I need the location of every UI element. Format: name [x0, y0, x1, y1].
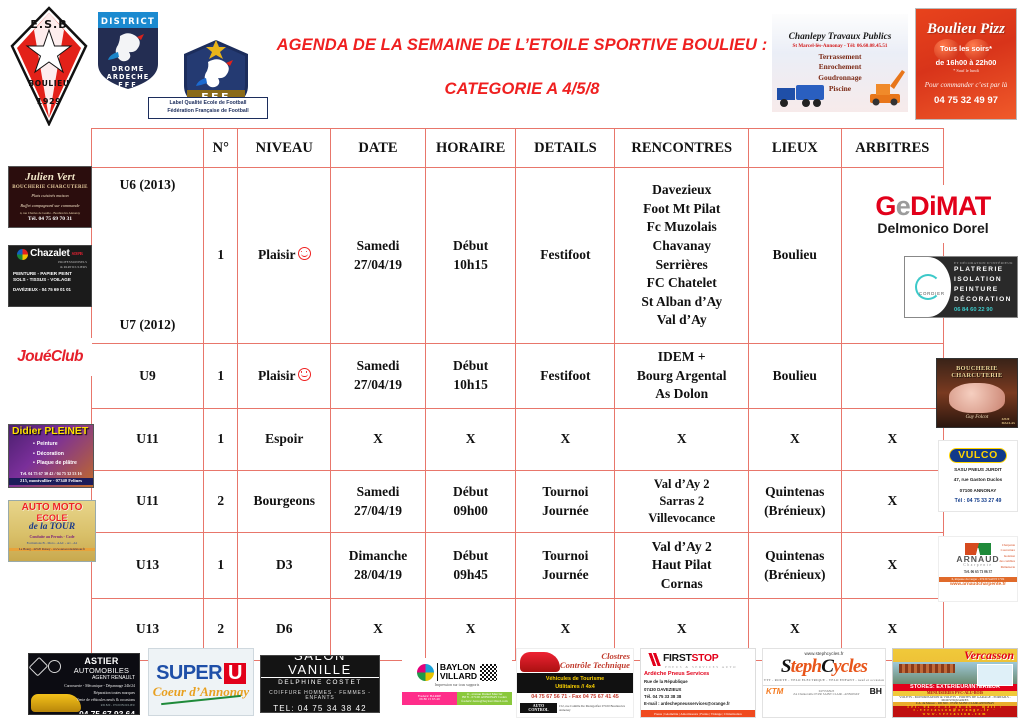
ad-vanille-services: COIFFURE HOMMES - FEMMES - ENFANTS — [261, 691, 379, 702]
ad-chanlepy-service-4: Piscine — [829, 85, 851, 93]
renault-diamond-icon — [29, 657, 48, 676]
ad-vulco-line1: SASU PNEUS JURDIT — [954, 466, 1002, 474]
svg-text:ARDECHE: ARDECHE — [107, 73, 150, 81]
ad-arnaud-phone: Tél. 06 65 73 06 37 — [964, 571, 992, 575]
row2-date: Samedi 27/04/19 — [331, 344, 426, 409]
row3-date: X — [331, 409, 426, 471]
table-row: U11 1 Espoir X X X X X X — [92, 409, 944, 471]
table-row: U9 1 Plaisir Samedi 27/04/19 Début 10h15… — [92, 344, 944, 409]
ad-pizz-script: Pour commander c’est par là — [925, 82, 1007, 89]
ad-arnaud-charpente: ARNAUD Charpente Tél. 06 65 73 06 37 6, … — [938, 536, 1018, 602]
row3-details: X — [516, 409, 615, 471]
row1-details: Festifoot — [516, 168, 615, 344]
svg-text:FFF: FFF — [118, 81, 138, 89]
ad-clostres-logo: AUTO CONTROL — [520, 703, 557, 713]
table-row: U6 (2013) U7 (2012) 1 Plaisir Samedi 27/… — [92, 168, 944, 344]
ad-julien-name: Julien Vert — [25, 172, 75, 184]
ad-pleinet-service-3: Plaque de plâtre — [33, 459, 77, 469]
ad-steph-brand2: BH — [870, 687, 882, 696]
ad-pizz-hours-2: de 16h00 à 22h00 — [936, 59, 997, 67]
ad-auto-moto-ecole-de-la-tour: AUTO MOTO ECOLE de la TOUR Conduite au P… — [8, 500, 96, 562]
ad-baylon-slogan: Impression sur tous supports — [435, 683, 480, 687]
ad-ecole-line1: AUTO MOTO — [22, 503, 83, 514]
ad-chanlepy-name: Chanlepy Travaux Publics — [789, 33, 892, 43]
row6-date: X — [331, 599, 426, 661]
firststop-slash-icon — [643, 653, 661, 666]
ad-gedimat-sub: Delmonico Dorel — [877, 221, 988, 236]
ad-ecole-line3: de la TOUR — [29, 523, 75, 533]
row1-rencontres: Davezieux Foot Mt Pilat Fc Muzolais Chav… — [615, 168, 749, 344]
ad-pizz-brand: Boulieu Pizz — [927, 22, 1005, 38]
ad-pleinet-service-1: Peinture — [33, 440, 77, 450]
ad-vercasson-brand: Vercasson — [964, 649, 1014, 662]
ad-chazalet-sub2: & PARTICULIERS — [60, 265, 87, 270]
ad-arnaud-sub: Charpente — [963, 564, 992, 568]
agenda-table: N° NIVEAU DATE HORAIRE DETAILS RENCONTRE… — [91, 128, 944, 661]
ad-chazalet-contact: DAVÉZIEUX - 04 75 69 01 01 — [13, 288, 71, 293]
ad-first-email: E-mail : ardechepneusservices@orange.fr — [644, 700, 730, 707]
ad-chanlepy-service-3: Goudronnage — [818, 74, 861, 82]
ad-astier-address: RD 820 - 07100 BOULIEU — [101, 704, 135, 707]
ad-gedimat: GeDiMAT Delmonico Dorel — [848, 185, 1018, 243]
ad-clostres-phone: 04 75 67 56 71 - Fax 04 75 67 41 45 — [531, 695, 619, 701]
row4-details: Tournoi Journée — [516, 471, 615, 533]
ad-first-address1: Rue de la République — [644, 678, 688, 685]
row2-rencontres: IDEM + Bourg Argental As Dolon — [615, 344, 749, 409]
row5-lieux: Quintenas (Brénieux) — [749, 533, 842, 599]
row2-number: 1 — [204, 344, 238, 409]
row5-number: 1 — [204, 533, 238, 599]
row4-date: Samedi 27/04/19 — [331, 471, 426, 533]
row5-details: Tournoi Journée — [516, 533, 615, 599]
row4-lieux: Quintenas (Brénieux) — [749, 471, 842, 533]
ad-cordier-service-1: PLATRERIE — [954, 265, 1017, 275]
ad-arnaud-services: Charpente Couverture Isolation des combl… — [999, 543, 1015, 570]
ad-salon-vanille: SALON VANILLE DELPHINE COSTET COIFFURE H… — [260, 655, 380, 713]
row1-horaire-value: 10h15 — [428, 256, 513, 275]
ad-steph-brand1: KTM — [766, 688, 783, 696]
row3-arbitres: X — [841, 409, 943, 471]
row5-category: U13 — [92, 533, 204, 599]
table-row: U11 2 Bourgeons Samedi 27/04/19 Début 09… — [92, 471, 944, 533]
ad-superu-name: SUPER — [156, 662, 222, 684]
ad-julien-trade: BOUCHERIE CHARCUTERIE — [12, 185, 88, 190]
dacia-oval-icon — [48, 660, 61, 673]
ad-boucherie-charcuterie: BOUCHERIE CHARCUTERIE Guy Folcot 42520 M… — [936, 358, 1018, 428]
row3-category: U11 — [92, 409, 204, 471]
ad-first-phone: Tél. 04 75 33 38 38 — [644, 693, 681, 700]
ad-joueclub: JouéClub — [8, 338, 92, 376]
ad-clostres-controle-technique: Clostres Contrôle Technique Véhicules de… — [516, 648, 634, 718]
ad-chanlepy-travaux-publics: Chanlepy Travaux Publics St Marcel-lès-A… — [772, 14, 908, 112]
ad-clostres-name2: Contrôle Technique — [517, 661, 633, 670]
ad-chazalet-name: Chazalet — [30, 249, 70, 260]
ad-arnaud-web: www.arnaudcharpente.fr — [950, 582, 1006, 587]
ad-pleinet-service-2: Décoration — [33, 450, 77, 460]
ad-chazalet-suffix: SDPB — [72, 252, 83, 257]
ad-cordier-service-3: PEINTURE — [954, 285, 1017, 295]
col-date: DATE — [331, 129, 426, 168]
table-row: U13 1 D3 Dimanche 28/04/19 Début 09h45 T… — [92, 533, 944, 599]
row3-rencontres: X — [615, 409, 749, 471]
ad-ecole-line4: Conduite au Permis - Code — [30, 535, 75, 539]
meat-platter-image — [949, 383, 1005, 413]
circle-c-icon — [915, 274, 941, 300]
row2-niveau: Plaisir — [238, 344, 331, 409]
row1-lieux: Boulieu — [749, 168, 842, 344]
row5-rencontres: Val d’Ay 2 Haut Pilat Cornas — [615, 533, 749, 599]
fff-quality-label: Label Qualité Ecole de Football Fédérati… — [148, 97, 268, 119]
table-header-row: N° NIVEAU DATE HORAIRE DETAILS RENCONTRE… — [92, 129, 944, 168]
row1-date: Samedi 27/04/19 — [331, 168, 426, 344]
ad-steph-name4: ycles — [833, 656, 867, 677]
qr-code-icon — [480, 664, 497, 681]
row3-lieux: X — [749, 409, 842, 471]
ad-pizz-note: * Sauf le lundi — [953, 69, 979, 74]
ad-vulco-name: VULCO — [949, 448, 1007, 463]
row1-category-top: U6 (2013) — [92, 176, 203, 195]
row5-date: Dimanche 28/04/19 — [331, 533, 426, 599]
ad-astier-name: ASTIER — [84, 656, 118, 666]
row1-niveau: Plaisir — [238, 168, 331, 344]
row1-date-value: 27/04/19 — [333, 256, 423, 275]
esb-club-logo: E.S.B BOULIEU 1929 — [8, 6, 90, 126]
ad-pleinet-name: Didier PLEINET — [12, 427, 88, 438]
col-details: DETAILS — [516, 129, 615, 168]
col-arbitres: ARBITRES — [841, 129, 943, 168]
ad-chazalet-header: Chazalet SDPB — [17, 249, 83, 260]
excavator-icon — [866, 66, 906, 108]
row4-rencontres: Val d’Ay 2 Sarras 2 Villevocance — [615, 471, 749, 533]
col-lieux: LIEUX — [749, 129, 842, 168]
ad-vulco: VULCO SASU PNEUS JURDIT 47, rue Gaston D… — [938, 440, 1018, 512]
ad-chanlepy-service-2: Enrochement — [819, 63, 862, 71]
row2-category: U9 — [92, 344, 204, 409]
fff-label-line2: Fédération Française de Football — [167, 108, 248, 116]
ad-gedimat-name: GeDiMAT — [875, 193, 990, 220]
store-awning-image — [893, 662, 1017, 684]
row1-horaire-label: Début — [428, 237, 513, 256]
col-niveau: NIVEAU — [238, 129, 331, 168]
ad-vercasson-line5: Tél. 04 75 33 58 46 - mail : c.vercasson… — [893, 706, 1017, 717]
ad-super-u: SUPERU Coeur d’Annonay — [148, 648, 254, 716]
ad-steph-cycles: www.stephcycles.fr StephCycles VTT - ROU… — [762, 648, 886, 718]
window-shape — [977, 664, 1013, 686]
row2-lieux: Boulieu — [749, 344, 842, 409]
ad-first-address2: 07430 DAVEZIEUX — [644, 686, 681, 693]
ad-astier-automobiles: ASTIER AUTOMOBILES AGENT RENAULT Carross… — [28, 653, 140, 715]
color-flower-icon — [417, 664, 434, 681]
cordier-logo-block — [905, 257, 951, 317]
svg-text:DROME: DROME — [112, 65, 145, 73]
truck-icon — [775, 82, 829, 108]
ad-steph-name1: S — [781, 656, 791, 677]
row5-arbitres: X — [841, 533, 943, 599]
col-horaire: HORAIRE — [425, 129, 515, 168]
ad-pleinet-phone: Tél. 04 75 67 30 42 / 04 75 32 53 16 — [20, 472, 81, 476]
row1-number: 1 — [204, 168, 238, 344]
ad-ecole-line6: Le Bourg - 42520 Roisey - www.autoecoled… — [9, 548, 95, 551]
ad-astier-agent: AGENT RENAULT — [92, 676, 135, 681]
ad-vercasson: Vercasson STORES: EXTÉRIEUR/INTÉRIEUR ME… — [892, 648, 1018, 718]
row4-category: U11 — [92, 471, 204, 533]
svg-text:E.S.B: E.S.B — [30, 18, 67, 31]
ad-steph-address: ZA Chantecaille 07430 SAINT CLAIR - ANNO… — [793, 693, 859, 696]
ad-boucherie-title: BOUCHERIE CHARCUTERIE — [937, 366, 1017, 379]
smiley-face-icon — [298, 368, 311, 381]
ad-vanille-owner: DELPHINE COSTET — [278, 680, 362, 687]
row2-horaire: Début 10h15 — [425, 344, 515, 409]
row1-horaire: Début 10h15 — [425, 168, 515, 344]
ad-cordier-phone: 06 84 60 22 90 — [954, 307, 1017, 313]
svg-text:DISTRICT: DISTRICT — [101, 17, 155, 27]
fff-label-line1: Label Qualité Ecole de Football — [170, 100, 247, 108]
ad-first-name1: FIRST — [663, 653, 692, 664]
agenda-poster: E.S.B BOULIEU 1929 DISTRICT DROME ARDECH… — [0, 0, 1024, 724]
ad-clostres-banner: Véhicules de Tourisme Utilitaires // 4x4 — [517, 673, 633, 693]
color-wheel-icon — [17, 249, 28, 260]
ad-chanlepy-subtitle: St Marcel-lès-Annonay - Tél: 06.60.08.45… — [793, 44, 888, 49]
ad-vulco-line3: 07100 ANNONAY — [960, 487, 997, 495]
ad-vanille-phone: TEL: 04 75 34 38 42 — [273, 705, 366, 712]
ad-superu-letter: U — [224, 663, 246, 684]
ad-steph-name3: C — [821, 656, 833, 677]
ad-astier-phone: 04 75 67 93 64 — [79, 710, 135, 715]
row3-number: 1 — [204, 409, 238, 471]
ad-baylon-green-line3: frederic.barre@baylonvillard.com — [457, 700, 512, 704]
ad-baylon-villard: BAYLON VILLARD Impression sur tous suppo… — [402, 658, 512, 710]
ad-boucherie-corner: 42520 MACLAS — [1002, 417, 1015, 425]
page-title: AGENDA DE LA SEMAINE DE L’ETOILE SPORTIV… — [262, 36, 782, 99]
row2-arbitres — [841, 344, 943, 409]
row3-horaire: X — [425, 409, 515, 471]
ad-julien-phone: Tél. 04 75 69 70 31 — [28, 217, 72, 223]
ad-pleinet-services: Peinture Décoration Plaque de plâtre — [33, 440, 77, 469]
row1-date-day: Samedi — [333, 237, 423, 256]
row1-category: U6 (2013) U7 (2012) — [92, 168, 204, 344]
ad-steph-sub: VTT - ROUTE - VELO ELECTRIQUE - VELO ENF… — [764, 679, 884, 682]
title-line-2: CATEGORIE A 4/5/8 — [262, 80, 782, 99]
ad-chazalet-line2: SOLS - TISSUS - VOILAGE — [13, 278, 71, 283]
row5-niveau: D3 — [238, 533, 331, 599]
district-drome-ardeche-logo: DISTRICT DROME ARDECHE FFF — [94, 8, 162, 92]
ad-pizz-hours-1: Tous les soirs* — [940, 45, 992, 53]
ad-julien-line2: Buffet campagnard sur commande — [20, 203, 79, 209]
row4-niveau: Bourgeons — [238, 471, 331, 533]
ad-chazalet: Chazalet SDPB PROFESSIONNELS & PARTICULI… — [8, 245, 92, 307]
ad-cordier-brand: CORDIER — [919, 291, 945, 296]
row4-number: 2 — [204, 471, 238, 533]
ad-cordier-service-4: DÉCORATION — [954, 295, 1017, 305]
ad-pleinet-address: 215, montvallier - 07340 Felines — [9, 478, 93, 485]
title-line-1: AGENDA DE LA SEMAINE DE L’ETOILE SPORTIV… — [262, 36, 782, 55]
ad-cordier-service-2: ISOLATION — [954, 275, 1017, 285]
col-category — [92, 129, 204, 168]
row5-horaire: Début 09h45 — [425, 533, 515, 599]
ad-boulieu-pizz: Boulieu Pizz Tous les soirs* de 16h00 à … — [915, 8, 1017, 120]
ad-vanille-name: SALON VANILLE — [261, 656, 379, 678]
ad-didier-pleinet: Didier PLEINET Peinture Décoration Plaqu… — [8, 424, 94, 488]
row1-category-bottom: U7 (2012) — [92, 316, 203, 335]
ad-ecole-line5: Formations B - Moto - AAC - A1 - A2 — [27, 541, 78, 546]
awning-shape — [899, 664, 955, 673]
ad-steph-name2: teph — [791, 656, 822, 677]
ad-vulco-line2: 47, rue Gaston Duclos — [954, 476, 1003, 484]
ad-baylon-pink-line2: 06 80 15 65 49 — [402, 698, 457, 702]
ad-chanlepy-service-1: Terrassement — [819, 53, 862, 61]
ad-first-tagline: PNEUS & SERVICES AUTO — [665, 666, 737, 669]
row4-arbitres: X — [841, 471, 943, 533]
col-number: N° — [204, 129, 238, 168]
smiley-face-icon — [298, 247, 311, 260]
svg-text:BOULIEU: BOULIEU — [28, 79, 69, 88]
ad-first-name2: STOP — [692, 653, 719, 664]
ad-first-services-bar: Pneus | Géométrie | Amortisseurs | Frein… — [641, 710, 755, 718]
ad-cordier: CORDIER ET DÉCORATION D’INTÉRIEUR PLATRE… — [904, 256, 1018, 318]
ad-chazalet-line1: PEINTURE - PAPIER PEINT — [13, 272, 72, 277]
ad-firststop-ardeche-pneus: FIRSTSTOP PNEUS & SERVICES AUTO Ardèche … — [640, 648, 756, 718]
row2-details: Festifoot — [516, 344, 615, 409]
svg-text:1929: 1929 — [37, 97, 62, 106]
row3-niveau: Espoir — [238, 409, 331, 471]
ad-julien-line1: Plats cuisinés maison — [31, 193, 68, 199]
ad-astier-services: Carrosserie - Mécanique - Dépannage 24h/… — [64, 683, 135, 704]
ad-baylon-name2: VILLARD — [440, 672, 477, 681]
ad-joueclub-name: JouéClub — [17, 349, 83, 365]
ad-vulco-phone: Tél : 04 75 33 27 49 — [955, 499, 1002, 504]
row4-horaire: Début 09h00 — [425, 471, 515, 533]
row6-horaire: X — [425, 599, 515, 661]
ad-julien-vert: Julien Vert BOUCHERIE CHARCUTERIE Plats … — [8, 166, 92, 228]
ad-clostres-address: 152, rue Camille De Montgolfier 07100 Bo… — [559, 704, 633, 713]
ad-pizz-phone: 04 75 32 49 97 — [934, 96, 998, 106]
row1-niveau-label: Plaisir — [258, 247, 296, 262]
col-rencontres: RENCONTRES — [615, 129, 749, 168]
ad-boucherie-signature: Guy Folcot — [966, 415, 989, 420]
